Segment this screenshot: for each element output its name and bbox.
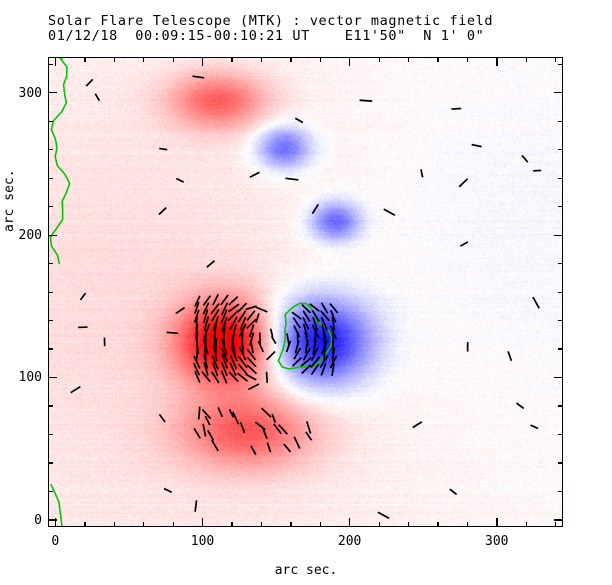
y-tick-label-300: 300 bbox=[2, 87, 42, 100]
x-tick-60 bbox=[143, 522, 144, 527]
x-axis-title: arc sec. bbox=[0, 563, 612, 578]
y-tick-right-120 bbox=[558, 348, 563, 349]
y-tick-right-40 bbox=[558, 462, 563, 463]
y-tick-200 bbox=[48, 235, 57, 236]
x-tick-top-340 bbox=[555, 57, 556, 62]
x-tick-260 bbox=[437, 522, 438, 527]
x-tick-80 bbox=[173, 522, 174, 527]
x-tick-top-140 bbox=[261, 57, 262, 62]
x-tick-200 bbox=[349, 518, 350, 527]
x-tick-top-160 bbox=[290, 57, 291, 62]
y-tick-320 bbox=[48, 64, 53, 65]
x-tick-top-80 bbox=[173, 57, 174, 62]
x-tick-top-100 bbox=[202, 57, 203, 66]
x-tick-label-300: 300 bbox=[475, 535, 519, 548]
y-tick-right-80 bbox=[558, 405, 563, 406]
y-tick-right-180 bbox=[558, 263, 563, 264]
x-tick-top-220 bbox=[379, 57, 380, 62]
y-tick-260 bbox=[48, 149, 53, 150]
y-tick-160 bbox=[48, 292, 53, 293]
x-tick-320 bbox=[526, 522, 527, 527]
y-tick-220 bbox=[48, 206, 53, 207]
y-tick-20 bbox=[48, 491, 53, 492]
x-tick-100 bbox=[202, 518, 203, 527]
y-tick-right-60 bbox=[558, 434, 563, 435]
x-tick-120 bbox=[231, 522, 232, 527]
x-tick-300 bbox=[496, 518, 497, 527]
magnetogram-plot-area bbox=[48, 57, 563, 527]
y-tick-label-100: 100 bbox=[2, 371, 42, 384]
y-tick-right-260 bbox=[558, 149, 563, 150]
x-tick-280 bbox=[467, 522, 468, 527]
x-tick-340 bbox=[555, 522, 556, 527]
observation-subtitle: 01/12/18 00:09:15-00:10:21 UT E11'50" N … bbox=[48, 29, 588, 44]
plot-title-block: Solar Flare Telescope (MTK) : vector mag… bbox=[48, 14, 588, 44]
x-tick-top-180 bbox=[320, 57, 321, 62]
x-tick-top-0 bbox=[55, 57, 56, 66]
y-tick-100 bbox=[48, 377, 57, 378]
y-tick-140 bbox=[48, 320, 53, 321]
x-tick-140 bbox=[261, 522, 262, 527]
x-tick-label-100: 100 bbox=[181, 535, 225, 548]
y-tick-right-160 bbox=[558, 292, 563, 293]
y-tick-right-200 bbox=[554, 235, 563, 236]
x-tick-top-280 bbox=[467, 57, 468, 62]
y-tick-180 bbox=[48, 263, 53, 264]
y-tick-right-280 bbox=[558, 121, 563, 122]
x-tick-top-300 bbox=[496, 57, 497, 66]
y-tick-right-20 bbox=[558, 491, 563, 492]
x-tick-top-40 bbox=[114, 57, 115, 62]
y-tick-0 bbox=[48, 519, 57, 520]
y-tick-right-100 bbox=[554, 377, 563, 378]
x-tick-top-200 bbox=[349, 57, 350, 66]
x-tick-220 bbox=[379, 522, 380, 527]
y-tick-300 bbox=[48, 92, 57, 93]
y-tick-240 bbox=[48, 178, 53, 179]
x-tick-160 bbox=[290, 522, 291, 527]
y-tick-120 bbox=[48, 348, 53, 349]
y-tick-60 bbox=[48, 434, 53, 435]
x-tick-top-320 bbox=[526, 57, 527, 62]
x-tick-top-240 bbox=[408, 57, 409, 62]
x-tick-20 bbox=[84, 522, 85, 527]
x-tick-top-260 bbox=[437, 57, 438, 62]
y-tick-right-240 bbox=[558, 178, 563, 179]
y-tick-label-0: 0 bbox=[2, 514, 42, 527]
y-tick-right-300 bbox=[554, 92, 563, 93]
y-tick-right-220 bbox=[558, 206, 563, 207]
x-tick-180 bbox=[320, 522, 321, 527]
page-title: Solar Flare Telescope (MTK) : vector mag… bbox=[48, 14, 588, 29]
x-tick-top-60 bbox=[143, 57, 144, 62]
y-tick-right-140 bbox=[558, 320, 563, 321]
x-tick-top-20 bbox=[84, 57, 85, 62]
x-tick-label-200: 200 bbox=[328, 535, 372, 548]
y-tick-280 bbox=[48, 121, 53, 122]
x-tick-240 bbox=[408, 522, 409, 527]
y-tick-right-0 bbox=[554, 519, 563, 520]
y-tick-40 bbox=[48, 462, 53, 463]
y-axis-title: arc sec. bbox=[2, 169, 17, 232]
x-tick-40 bbox=[114, 522, 115, 527]
y-tick-right-320 bbox=[558, 64, 563, 65]
transverse-field-vector-overlay bbox=[49, 58, 562, 526]
x-tick-label-0: 0 bbox=[33, 535, 77, 548]
y-tick-80 bbox=[48, 405, 53, 406]
x-tick-top-120 bbox=[231, 57, 232, 62]
